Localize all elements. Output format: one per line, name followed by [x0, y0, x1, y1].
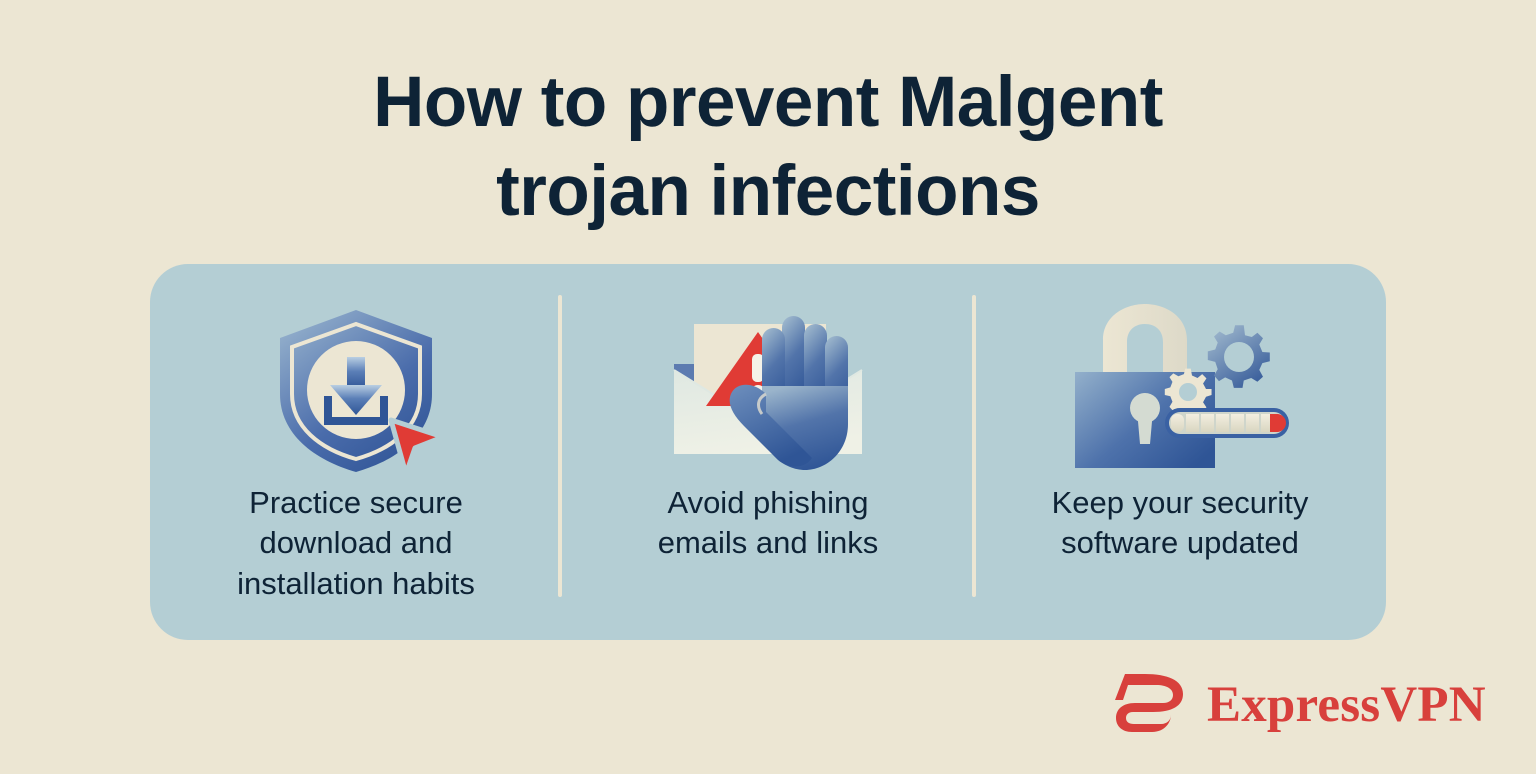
caption-line: emails and links [658, 523, 879, 563]
shield-download-cursor-icon [256, 302, 456, 477]
tip-panel-avoid-phishing: Avoid phishing emails and links [562, 264, 974, 640]
tip-caption-secure-download: Practice secure download and installatio… [227, 483, 485, 604]
tip-panel-secure-download: Practice secure download and installatio… [150, 264, 562, 640]
tip-caption-keep-updated: Keep your security software updated [1042, 483, 1319, 564]
tips-card: Practice secure download and installatio… [150, 264, 1386, 640]
padlock-gears-update-icon [1065, 302, 1295, 477]
tip-panel-keep-updated: Keep your security software updated [974, 264, 1386, 640]
expressvpn-logo: ExpressVPN [1115, 672, 1486, 739]
caption-line: Avoid phishing [658, 483, 879, 523]
panel-divider-2 [972, 295, 976, 597]
panel-divider-1 [558, 295, 562, 597]
expressvpn-wordmark: ExpressVPN [1207, 680, 1486, 731]
caption-line: Keep your security [1052, 483, 1309, 523]
infographic-canvas: How to prevent Malgent trojan infections [0, 0, 1536, 774]
caption-line: download and [237, 523, 475, 563]
page-title-line-1: How to prevent Malgent [0, 58, 1536, 147]
tip-caption-avoid-phishing: Avoid phishing emails and links [648, 483, 889, 564]
expressvpn-logo-mark [1115, 672, 1191, 739]
caption-line: Practice secure [237, 483, 475, 523]
caption-line: software updated [1052, 523, 1309, 563]
page-title: How to prevent Malgent trojan infections [0, 58, 1536, 237]
page-title-line-2: trojan infections [0, 147, 1536, 236]
caption-line: installation habits [237, 564, 475, 604]
tips-panel-group: Practice secure download and installatio… [150, 264, 1386, 640]
phishing-email-stop-hand-icon [666, 302, 871, 477]
